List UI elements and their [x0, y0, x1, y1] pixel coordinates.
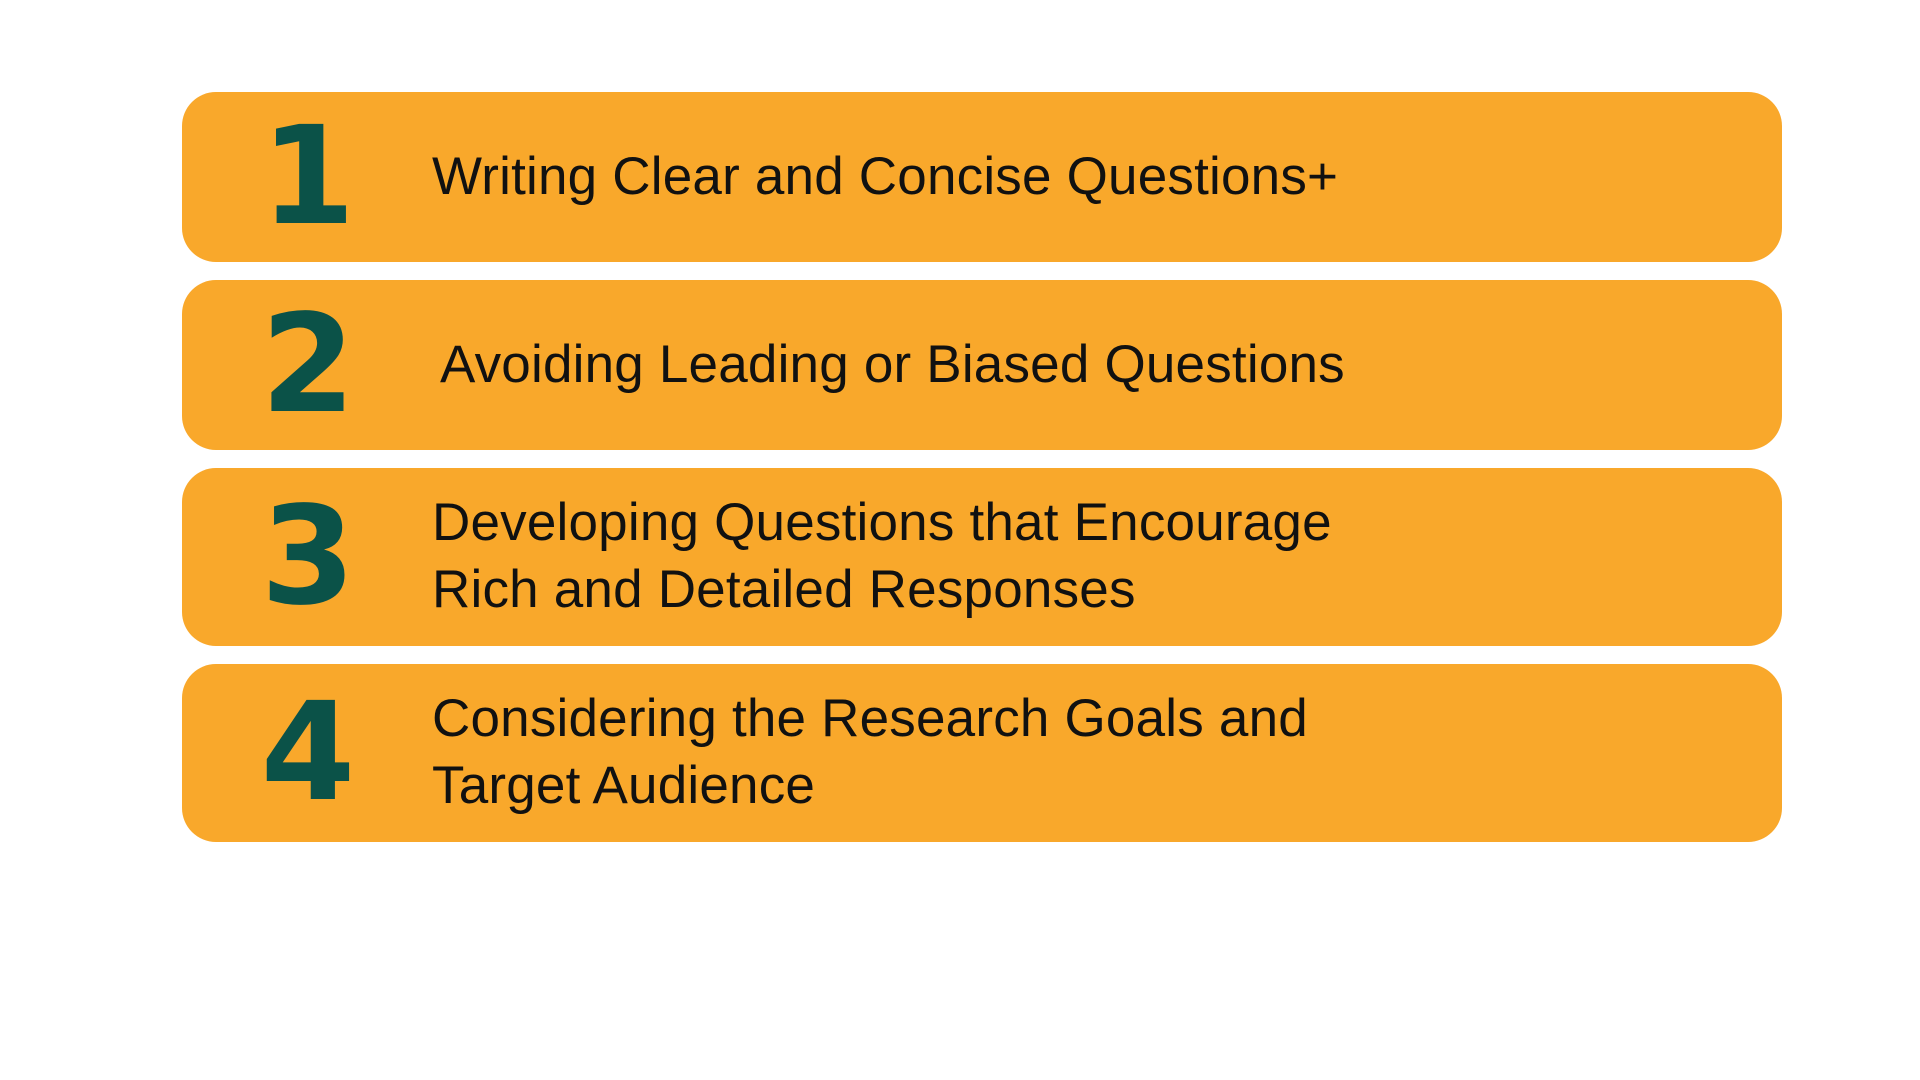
list-item[interactable]: 1 Writing Clear and Concise Questions+: [182, 92, 1782, 262]
list-item-text-line: Writing Clear and Concise Questions+: [432, 144, 1722, 211]
list-item-text-line: Considering the Research Goals and: [432, 686, 1722, 753]
list-item[interactable]: 2 Avoiding Leading or Biased Questions: [182, 280, 1782, 450]
list-item-text: Avoiding Leading or Biased Questions: [432, 332, 1782, 399]
list-item-number: 1: [182, 109, 432, 245]
list-item-number: 4: [182, 685, 432, 821]
list-item-text: Considering the Research Goals and Targe…: [432, 686, 1782, 820]
list-item-text-line: Target Audience: [432, 753, 1722, 820]
list-item[interactable]: 4 Considering the Research Goals and Tar…: [182, 664, 1782, 842]
infographic-slide: 1 Writing Clear and Concise Questions+ 2…: [0, 0, 1920, 1080]
list-item-text-line: Avoiding Leading or Biased Questions: [440, 332, 1722, 399]
list-item-text-line: Rich and Detailed Responses: [432, 557, 1722, 624]
numbered-list: 1 Writing Clear and Concise Questions+ 2…: [182, 92, 1782, 842]
list-item-text-line: Developing Questions that Encourage: [432, 490, 1722, 557]
list-item-text: Developing Questions that Encourage Rich…: [432, 490, 1782, 624]
list-item[interactable]: 3 Developing Questions that Encourage Ri…: [182, 468, 1782, 646]
list-item-number: 2: [182, 297, 432, 433]
list-item-number: 3: [182, 489, 432, 625]
list-item-text: Writing Clear and Concise Questions+: [432, 144, 1782, 211]
